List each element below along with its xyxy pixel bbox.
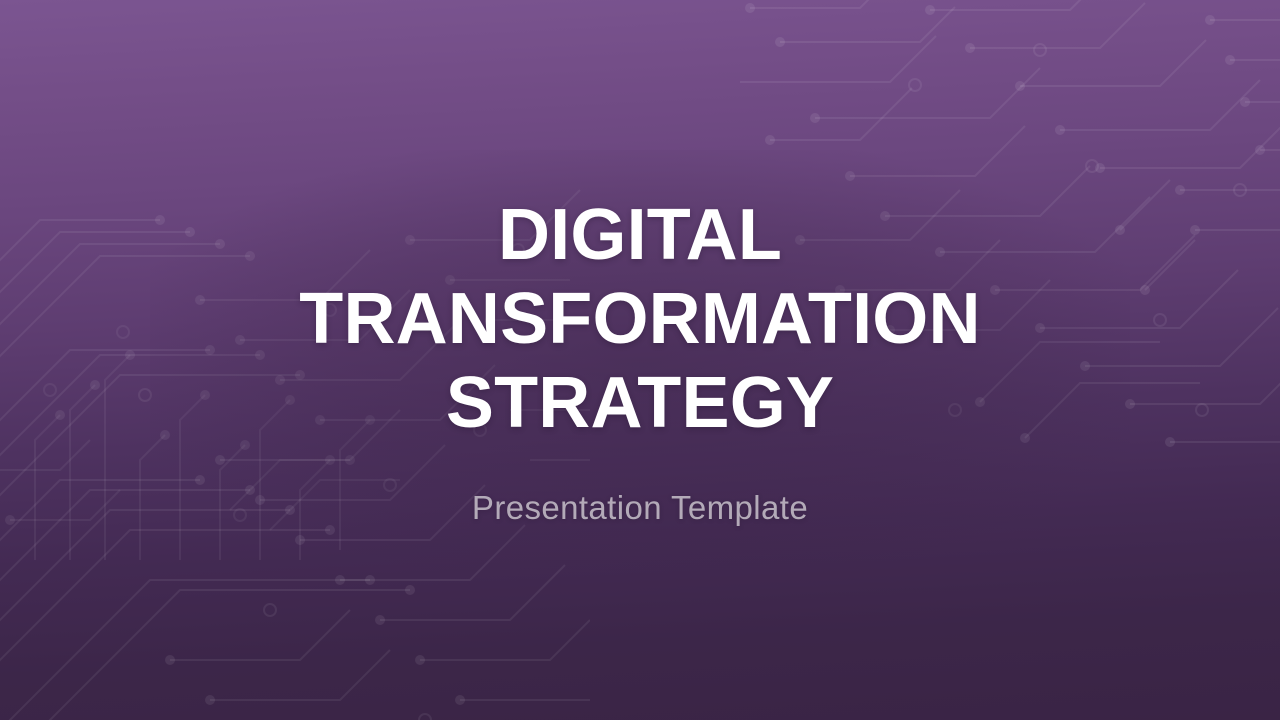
slide-title: DIGITAL TRANSFORMATION STRATEGY [170, 193, 1110, 445]
slide-content: DIGITAL TRANSFORMATION STRATEGY Presenta… [0, 0, 1280, 720]
slide-subtitle: Presentation Template [472, 445, 808, 527]
title-slide: DIGITAL TRANSFORMATION STRATEGY Presenta… [0, 0, 1280, 720]
